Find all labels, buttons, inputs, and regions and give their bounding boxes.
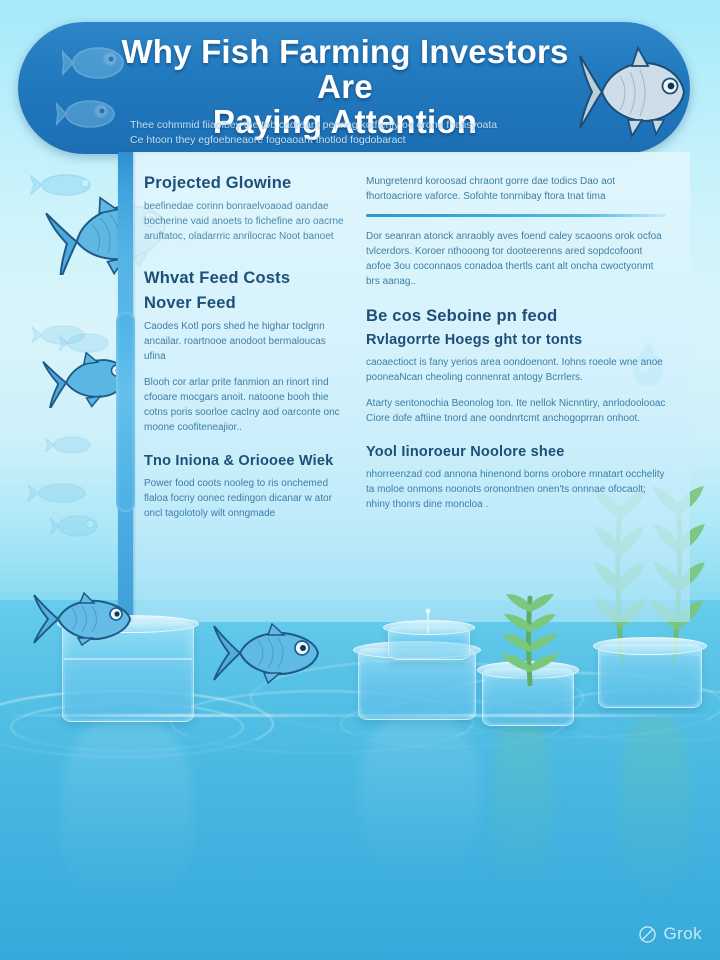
tank-rim xyxy=(383,620,475,635)
vertical-accent-node xyxy=(116,312,135,512)
section-trends-issues: Tno Iniona & Oriooee Wiek Power food coo… xyxy=(144,453,349,521)
fish-faint-5-icon xyxy=(26,478,94,508)
fish-faint-2-icon xyxy=(30,320,90,350)
fish-faint-6-icon xyxy=(48,510,104,542)
tank-large-left xyxy=(62,622,194,722)
section-heading: Tno Iniona & Oriooee Wiek xyxy=(144,453,349,470)
section-feed-costs: Whvat Feed Costs Nover Feed Caodes Kotl … xyxy=(144,269,349,435)
infographic-poster: Why Fish Farming Investors Are Paying At… xyxy=(0,0,720,960)
section-heading: Projected Glowine xyxy=(144,174,349,193)
tank-aerator-top xyxy=(388,626,470,660)
header-banner: Why Fish Farming Investors Are Paying At… xyxy=(18,22,690,154)
tank-water xyxy=(65,658,191,719)
section-heading-line1: Whvat Feed Costs xyxy=(144,269,349,288)
right-column: Mungretenrd koroosad chraont gorre dae t… xyxy=(366,174,666,523)
section-projected-growth: Projected Glowine beefinedae corinn bonr… xyxy=(144,174,349,244)
left-column: Projected Glowine beefinedae corinn bonr… xyxy=(144,174,349,532)
section-paragraph: Blooh cor arlar prite fanmion an rinort … xyxy=(144,375,349,435)
tank-waterline xyxy=(64,658,192,660)
reflection-tank-aerator xyxy=(360,716,480,876)
banner-title-line1: Why Fish Farming Investors Are xyxy=(108,34,582,104)
grok-watermark: Grok xyxy=(638,924,702,944)
tank-plant-right xyxy=(598,644,702,708)
section-sustainable-feed: Be cos Seboine pn feod Rvlagorrte Hoegs … xyxy=(366,307,666,426)
section-paragraph: Caodes Kotl pors shed he highar toclgnn … xyxy=(144,319,349,364)
banner-subtitle: Thee cohmmid fiiaoibey the tob cadreant … xyxy=(130,118,572,148)
spacer xyxy=(144,255,349,269)
content-card: Projected Glowine beefinedae corinn bonr… xyxy=(118,152,690,622)
section-intro: Mungretenrd koroosad chraont gorre dae t… xyxy=(366,174,666,217)
tank-rim xyxy=(593,637,707,655)
grok-label: Grok xyxy=(664,924,702,944)
plant-middle-icon xyxy=(490,590,570,686)
section-divider xyxy=(366,214,666,217)
section-heading: Yool Iinoroeur Noolore shee xyxy=(366,444,666,461)
fish-faint-1-icon xyxy=(28,168,98,202)
waterline xyxy=(0,714,720,717)
spacer xyxy=(144,446,349,453)
section-stocks: Dor seanran atonck anraobly aves foend c… xyxy=(366,229,666,289)
section-paragraph: Dor seanran atonck anraobly aves foend c… xyxy=(366,229,666,289)
tank-water xyxy=(361,662,473,717)
spacer xyxy=(366,300,666,307)
section-outlook: Yool Iinoroeur Noolore shee nhorreenzad … xyxy=(366,444,666,512)
section-paragraph: caoaectioct is fany yerios area oondoeno… xyxy=(366,355,666,385)
section-paragraph: Mungretenrd koroosad chraont gorre dae t… xyxy=(366,174,666,204)
section-paragraph: nhorreenzad cod annona hinenond borns or… xyxy=(366,467,666,512)
reflection-tank-left xyxy=(62,718,192,908)
section-heading: Be cos Seboine pn feod xyxy=(366,307,666,326)
section-paragraph: Atarty sentonochia Beonolog ton. Ite nel… xyxy=(366,396,666,426)
banner-subtitle-line2: Ce htoon they egfoebneaore fogoaoant Iho… xyxy=(130,133,572,148)
reflection-plant-middle xyxy=(492,716,552,896)
section-subheading: Rvlagorrte Hoegs ght tor tonts xyxy=(366,332,666,349)
tank-rim xyxy=(57,615,199,633)
reflection-plant-right xyxy=(620,716,690,906)
grok-logo-icon xyxy=(638,925,657,944)
spacer xyxy=(366,437,666,444)
fish-faint-3-icon xyxy=(58,328,116,358)
section-paragraph: beefinedae corinn bonraelvoaoad oandae b… xyxy=(144,199,349,244)
fish-faint-4-icon xyxy=(44,432,96,458)
tank-water xyxy=(601,656,699,705)
section-heading-line2: Nover Feed xyxy=(144,294,349,313)
banner-subtitle-line1: Thee cohmmid fiiaoibey the tob cadreant … xyxy=(130,118,572,133)
section-paragraph: Power food coots nooleg to ris onchemed … xyxy=(144,476,349,521)
